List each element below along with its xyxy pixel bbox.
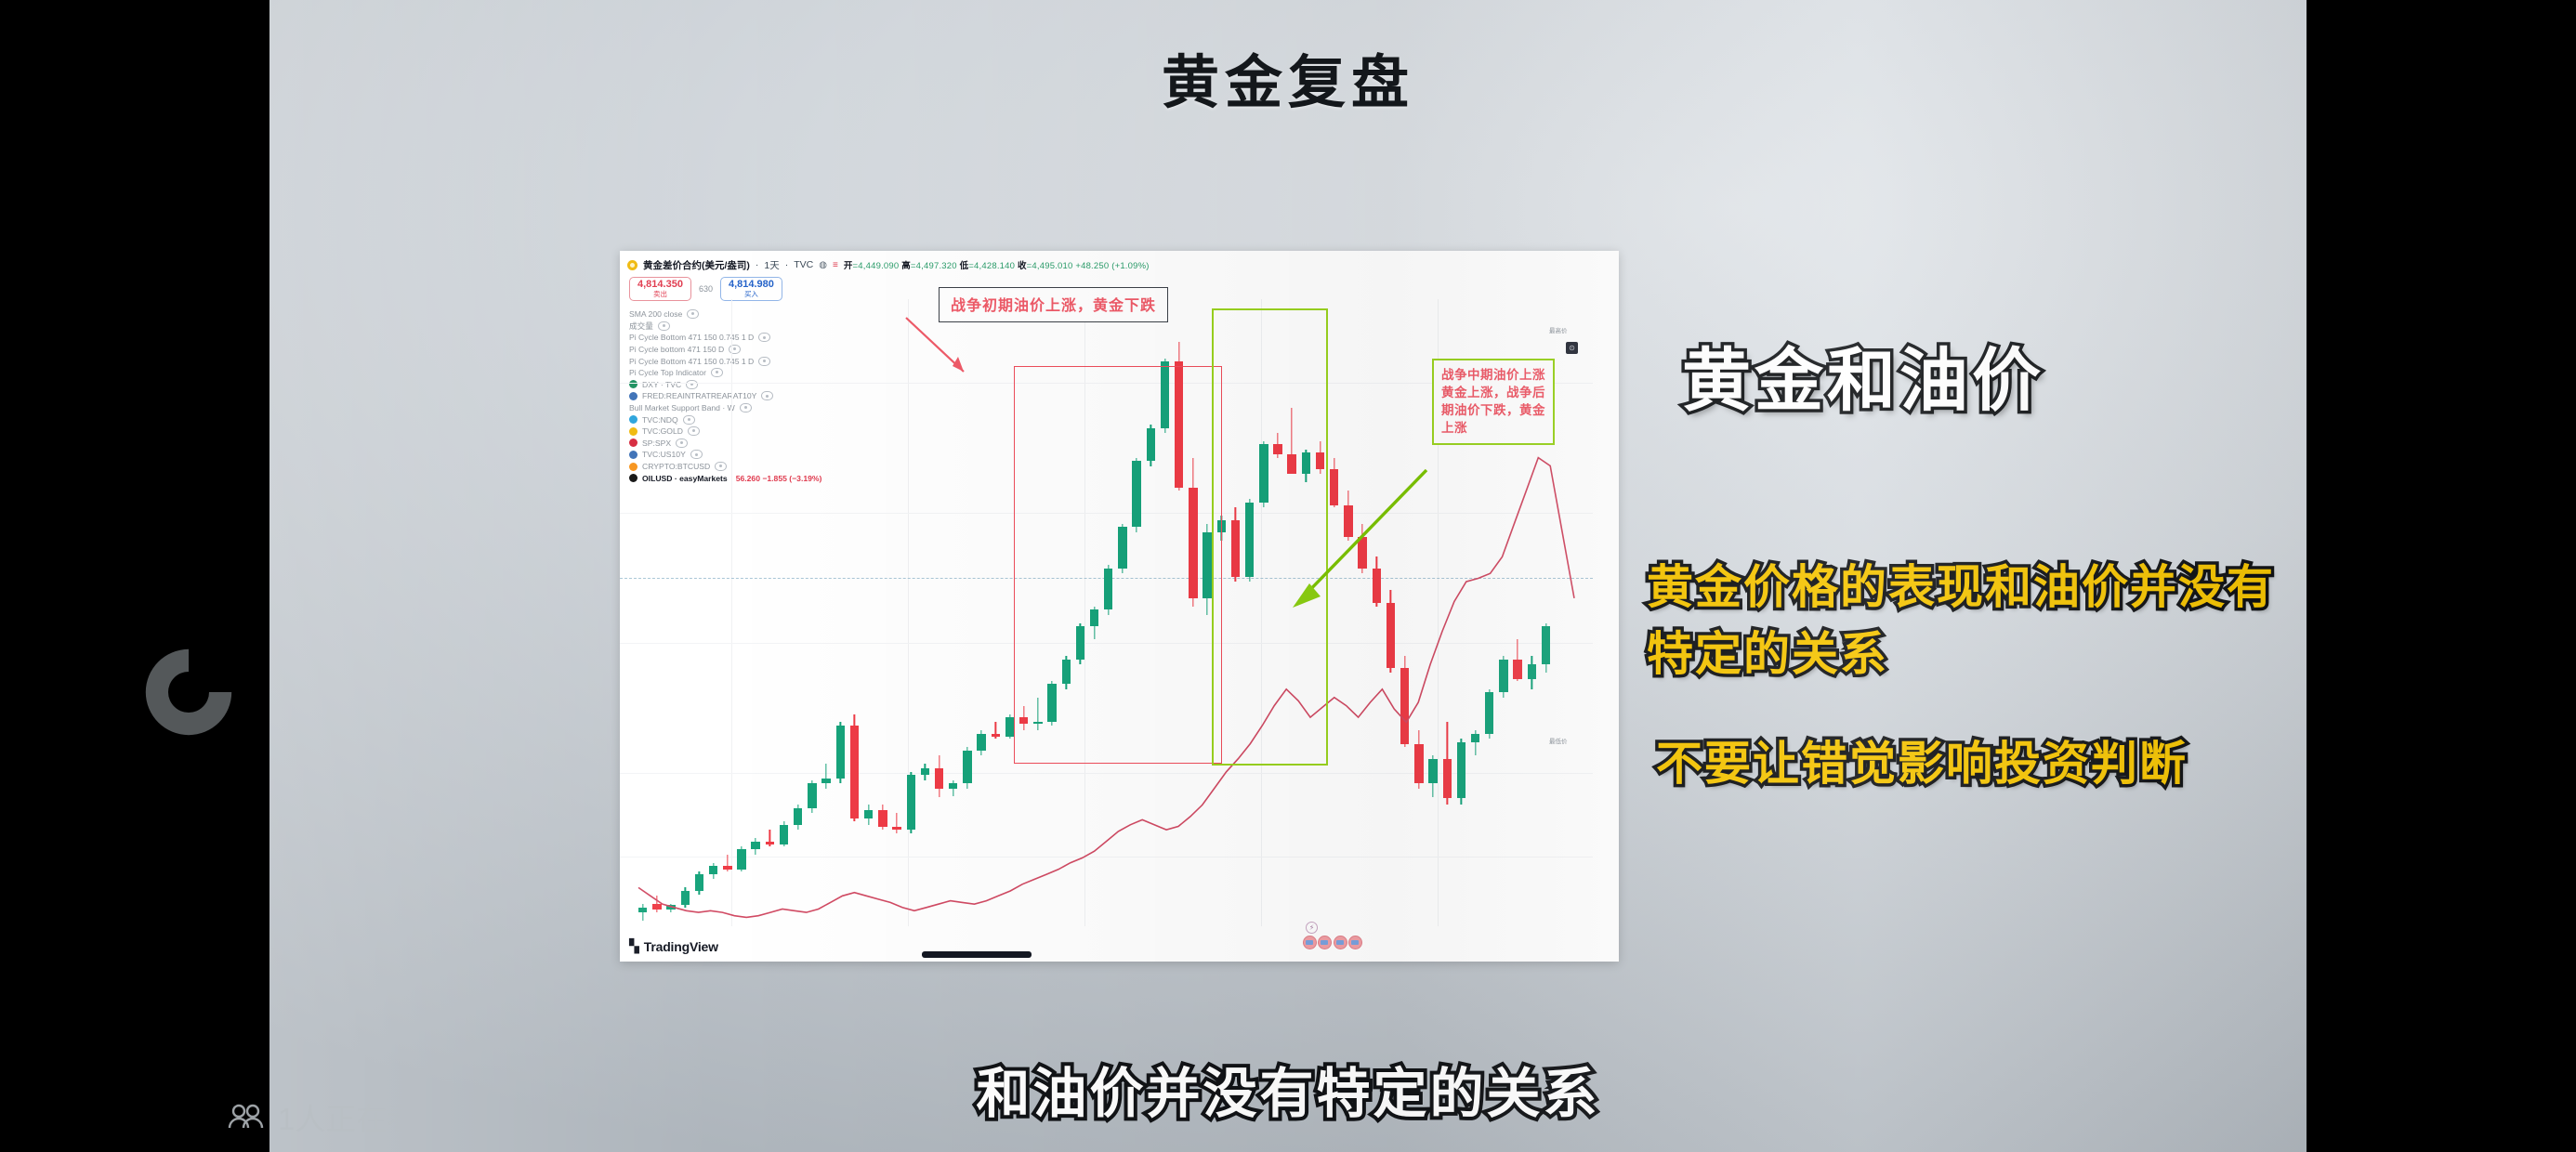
ohlc-low: 4,428.140 bbox=[974, 261, 1015, 271]
sell-button[interactable]: 4,814.350 卖出 bbox=[629, 277, 691, 301]
tradingview-chart[interactable]: 黄金差价合约(美元/盎司) · 1天 · TVC ◍ ≡ 开=4,449.090… bbox=[620, 251, 1619, 962]
chart-header: 黄金差价合约(美元/盎司) · 1天 · TVC ◍ ≡ 开=4,449.090… bbox=[620, 251, 1619, 275]
economic-event-flag-icon[interactable] bbox=[1303, 936, 1317, 949]
section-heading: 黄金和油价 bbox=[1682, 325, 2044, 425]
viewer-count: 1人正在看 bbox=[228, 1094, 417, 1139]
high-price-tag: 最高价 bbox=[1549, 325, 1568, 334]
ohlc-values: 开=4,449.090 高=4,497.320 低=4,428.140 收=4,… bbox=[844, 258, 1150, 271]
low-price-tag: 最低价 bbox=[1549, 736, 1568, 745]
spread-value: 630 bbox=[699, 284, 713, 294]
annotation-note-green[interactable]: 战争中期油价上涨黄金上涨，战争后期油价下跌，黄金上涨 bbox=[1432, 359, 1555, 445]
ohlc-open: 4,449.090 bbox=[858, 261, 899, 271]
war-middle-range-box[interactable] bbox=[1014, 366, 1222, 764]
people-icon bbox=[228, 1103, 265, 1131]
economic-event-flag-icon[interactable] bbox=[1318, 936, 1332, 949]
quote-row: 4,814.350 卖出 630 4,814.980 买入 bbox=[629, 277, 782, 301]
indicator-icon[interactable]: ≡ bbox=[833, 260, 838, 270]
earnings-bolt-icon[interactable]: ⚡ bbox=[1306, 922, 1318, 934]
sell-price: 4,814.350 bbox=[637, 280, 683, 291]
video-stage: 黄金复盘 黄金差价合约(美元/盎司) · 1天 · TVC ◍ ≡ 开=4,44… bbox=[0, 0, 2576, 1152]
bullet-point-2: 不要让错觉影响投资判断 bbox=[1656, 727, 2188, 793]
economic-event-flag-icon[interactable] bbox=[1348, 936, 1362, 949]
red-arrow-icon bbox=[899, 314, 1019, 403]
ohlc-open-label: 开 bbox=[844, 261, 853, 271]
green-arrow-icon bbox=[1252, 459, 1438, 635]
ohlc-close: 4,495.010 bbox=[1032, 261, 1072, 271]
annotation-note-red[interactable]: 战争初期油价上涨，黄金下跌 bbox=[939, 287, 1168, 322]
tradingview-wordmark: TradingView bbox=[644, 939, 718, 954]
ohlc-close-label: 收 bbox=[1018, 261, 1027, 271]
auto-scale-icon[interactable]: ⊙ bbox=[1566, 342, 1578, 354]
buy-price: 4,814.980 bbox=[729, 280, 774, 291]
interval-label[interactable]: 1天 bbox=[764, 258, 779, 272]
tradingview-logo[interactable]: ▚ TradingView bbox=[629, 938, 718, 954]
exchange-label: TVC bbox=[794, 259, 813, 270]
candle-style-icon[interactable]: ◍ bbox=[819, 260, 827, 270]
ohlc-change-pct: (+1.09%) bbox=[1111, 261, 1149, 271]
sell-label: 卖出 bbox=[637, 291, 683, 298]
ohlc-high-label: 高 bbox=[901, 261, 911, 271]
slide-background: 黄金复盘 黄金差价合约(美元/盎司) · 1天 · TVC ◍ ≡ 开=4,44… bbox=[269, 0, 2307, 1152]
buy-label: 买入 bbox=[729, 291, 774, 298]
viewer-count-label: 1人正在看 bbox=[278, 1094, 417, 1139]
ohlc-change: +48.250 bbox=[1075, 261, 1109, 271]
symbol-separator: · bbox=[756, 259, 759, 270]
bullet-point-1: 黄金价格的表现和油价并没有特定的关系 bbox=[1647, 550, 2307, 684]
circle-g-logo-icon bbox=[138, 641, 240, 743]
economic-event-flag-icon[interactable] bbox=[1334, 936, 1347, 949]
symbol-separator-2: · bbox=[785, 259, 789, 270]
tradingview-mark-icon: ▚ bbox=[629, 938, 638, 954]
gold-coin-icon bbox=[627, 260, 637, 270]
buy-button[interactable]: 4,814.980 买入 bbox=[720, 277, 782, 301]
event-markers[interactable]: ⚡ bbox=[1303, 922, 1360, 954]
ohlc-high: 4,497.320 bbox=[916, 261, 957, 271]
symbol-name[interactable]: 黄金差价合约(美元/盎司) bbox=[643, 258, 750, 272]
ohlc-low-label: 低 bbox=[960, 261, 969, 271]
horizontal-scrollbar[interactable] bbox=[922, 951, 1032, 958]
page-title: 黄金复盘 bbox=[269, 35, 2307, 119]
subtitle-caption: 和油价并没有特定的关系 bbox=[269, 1050, 2307, 1128]
